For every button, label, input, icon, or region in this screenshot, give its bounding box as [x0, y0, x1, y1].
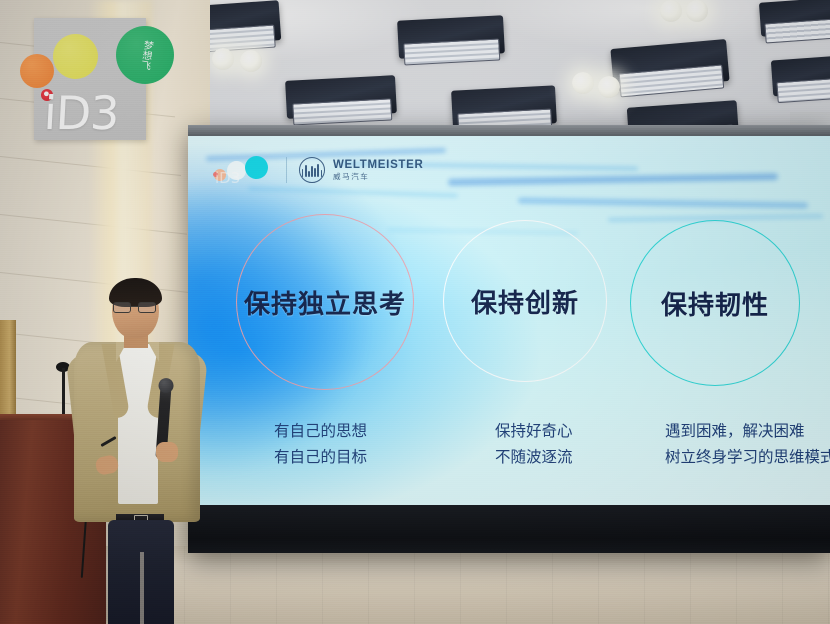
slide-circle-3-title: 保持韧性 [661, 285, 769, 322]
presenter [72, 282, 202, 624]
screen-bezel-top [188, 125, 830, 136]
slide-caption-2-line1: 保持好奇心 [495, 419, 573, 445]
wave-band [248, 186, 458, 197]
ceiling-light-fixture [451, 85, 557, 128]
ceiling-light-fixture [610, 39, 729, 91]
brand-name-cn: 威马汽车 [333, 173, 424, 181]
brand-name: WELTMEISTER [333, 160, 424, 172]
slide-caption-3-line2: 树立终身学习的思维模式 [665, 445, 830, 471]
slide-circle-2: 保持创新 [443, 220, 607, 382]
weltmeister-logo: WELTMEISTER 威马汽车 [299, 157, 424, 183]
header-divider [286, 157, 287, 183]
slide-caption-3-line1: 遇到困难，解决困难 [665, 419, 830, 445]
wall-sign-brand-text: iD3 [43, 90, 120, 136]
slide-circle-1-title: 保持独立思考 [244, 284, 406, 321]
slide-caption-3: 遇到困难，解决困难 树立终身学习的思维模式 [665, 419, 830, 471]
wave-band [518, 197, 808, 208]
orange-circle-icon [20, 54, 54, 88]
slide-caption-2-line2: 不随波逐流 [495, 445, 573, 471]
green-circle-label: 梦想飞 [137, 39, 152, 70]
soundwave-icon [299, 157, 325, 183]
slide-caption-1-line1: 有自己的思想 [274, 419, 367, 445]
presentation-slide: iD3 WELTMEISTER 威马汽车 保持独立思考 [188, 136, 830, 505]
slide-caption-2: 保持好奇心 不随波逐流 [495, 419, 573, 471]
slide-circle-2-title: 保持创新 [471, 283, 579, 320]
yellow-circle-icon [53, 34, 98, 79]
ceiling-light-fixture [397, 15, 505, 58]
slide-circle-3: 保持韧性 [630, 220, 800, 386]
slide-caption-1: 有自己的思想 有自己的目标 [274, 419, 367, 471]
presenter-right-hand [156, 442, 178, 462]
jacket-collar-right [148, 342, 159, 362]
spotlight-icon [660, 0, 682, 22]
weltmeister-wordmark: WELTMEISTER 威马汽车 [333, 160, 424, 181]
slide-circle-group: 保持独立思考 保持创新 保持韧性 [188, 212, 830, 394]
led-screen: iD3 WELTMEISTER 威马汽车 保持独立思考 [188, 125, 830, 553]
id3-logo: iD3 [212, 153, 274, 187]
id3-logo-text: iD3 [215, 171, 240, 186]
slide-circle-1: 保持独立思考 [236, 214, 414, 390]
eyeglasses-icon [112, 302, 159, 313]
ceiling-light-fixture [285, 75, 397, 119]
spotlight-icon [598, 76, 620, 98]
screen-bezel-bottom [188, 505, 830, 553]
spotlight-icon [686, 0, 708, 22]
slide-caption-1-line2: 有自己的目标 [274, 445, 367, 471]
presentation-photo: 梦想飞 iD3 iD3 [0, 0, 830, 624]
presenter-leg-gap [140, 552, 144, 624]
spotlight-icon [240, 50, 262, 72]
ceiling-light-fixture [759, 0, 830, 37]
presenter-shirt [118, 344, 158, 504]
green-circle-icon: 梦想飞 [116, 26, 174, 84]
spotlight-icon [572, 72, 594, 94]
wave-band [448, 173, 778, 186]
spotlight-icon [212, 48, 234, 70]
logo-circle-cyan-icon [245, 156, 268, 179]
light-panel [776, 78, 830, 103]
ceiling-light-fixture [771, 56, 830, 97]
slide-header: iD3 WELTMEISTER 威马汽车 [212, 153, 424, 187]
